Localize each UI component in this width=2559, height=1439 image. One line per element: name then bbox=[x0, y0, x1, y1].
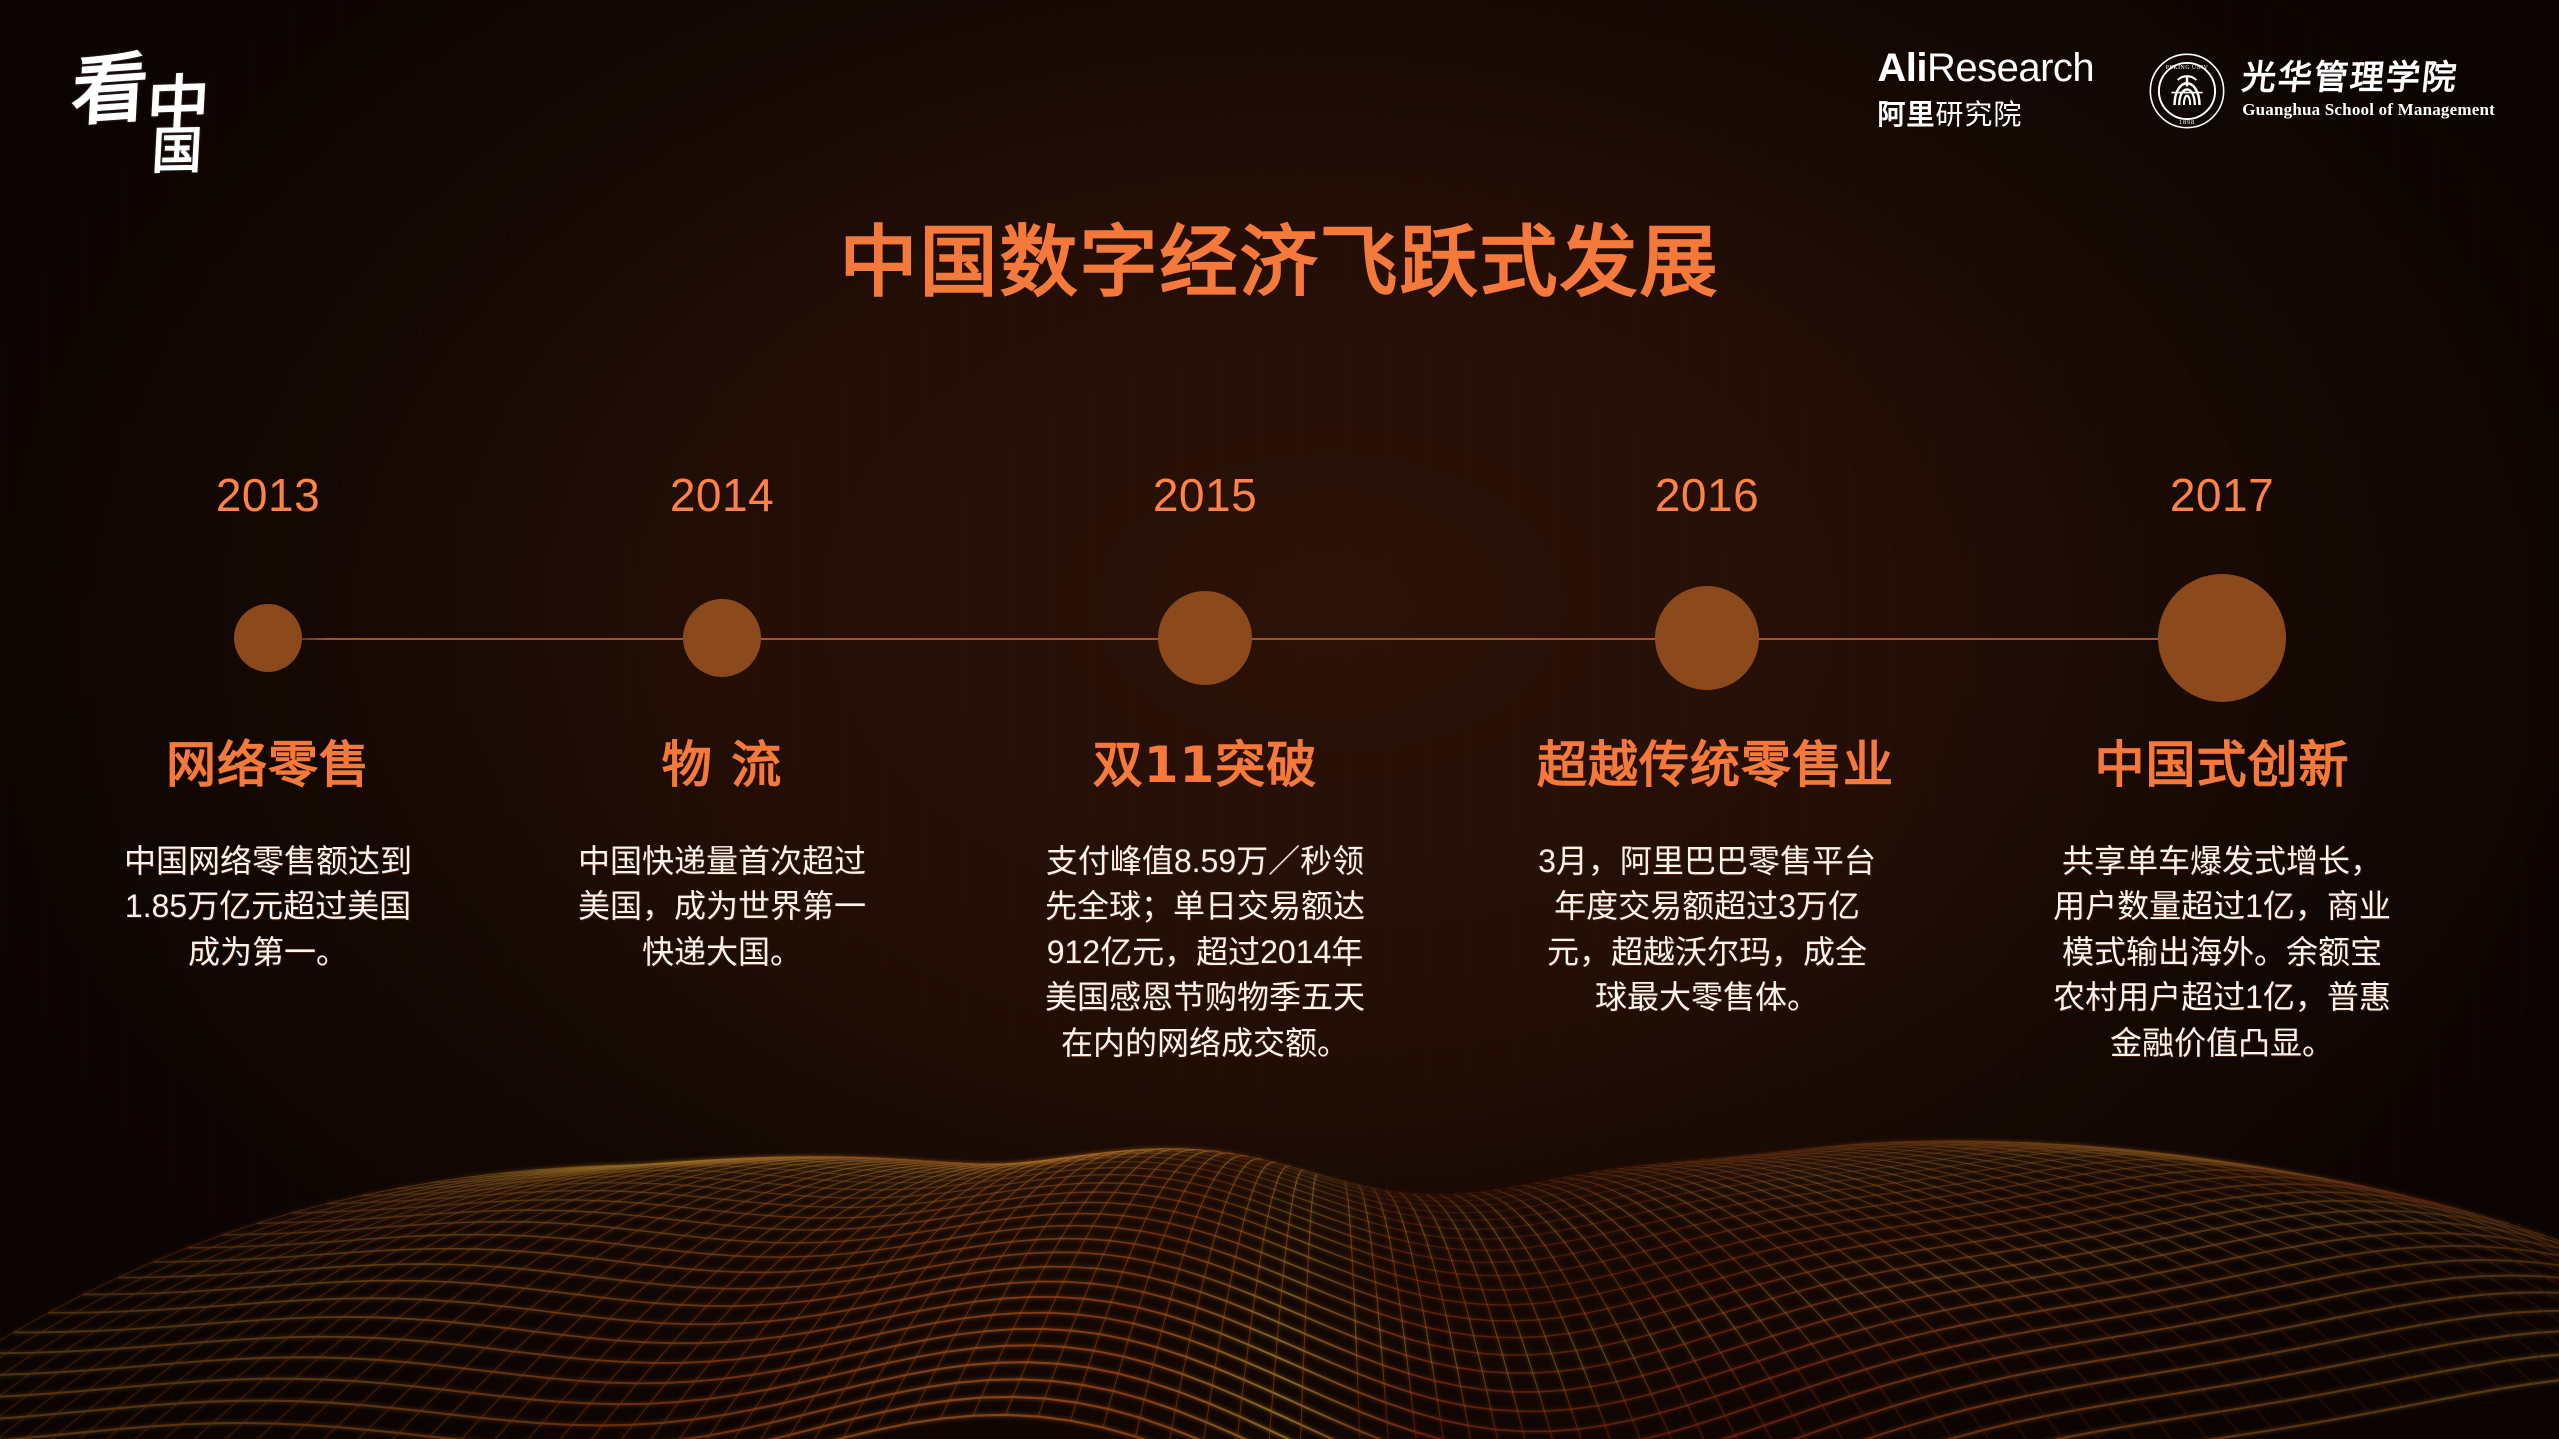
column-heading-2017: 中国式创新 bbox=[2052, 738, 2392, 793]
column-body-2017: 共享单车爆发式增长，用户数量超过1亿，商业模式输出海外。余额宝农村用户超过1亿，… bbox=[2052, 839, 2392, 1066]
timeline-dot-2015 bbox=[1158, 591, 1252, 685]
aliresearch-wordmark: AliResearch bbox=[1877, 48, 2094, 88]
aliresearch-logo: AliResearch 阿里研究院 bbox=[1877, 48, 2094, 133]
aliresearch-research: Research bbox=[1927, 46, 2094, 90]
timeline-dot-2014 bbox=[683, 599, 761, 677]
timeline-column-2017: 中国式创新共享单车爆发式增长，用户数量超过1亿，商业模式输出海外。余额宝农村用户… bbox=[2052, 738, 2392, 1066]
brand-logo-kan-zhongguo: 看 中 国 bbox=[72, 38, 262, 198]
timeline-year-2014: 2014 bbox=[670, 468, 774, 522]
timeline-column-2016: 超越传统零售业3月，阿里巴巴零售平台年度交易额超过3万亿元，超越沃尔玛，成全球最… bbox=[1537, 738, 1877, 1021]
timeline-year-2016: 2016 bbox=[1655, 468, 1759, 522]
brand-char-guo: 国 bbox=[151, 126, 204, 177]
aliresearch-cn-wordmark: 阿里研究院 bbox=[1877, 93, 2022, 133]
column-heading-2013: 网络零售 bbox=[118, 738, 418, 793]
guanghua-cn-name: 光华管理学院 bbox=[2240, 61, 2497, 97]
timeline-column-2013: 网络零售中国网络零售额达到1.85万亿元超过美国成为第一。 bbox=[118, 738, 418, 975]
column-body-2013: 中国网络零售额达到1.85万亿元超过美国成为第一。 bbox=[118, 839, 418, 975]
column-heading-2014: 物 流 bbox=[567, 738, 877, 793]
page-title: 中国数字经济飞跃式发展 bbox=[0, 200, 2559, 312]
timeline-dot-2016 bbox=[1655, 586, 1759, 690]
peking-university-seal-icon: PEKING UNIV 1898 bbox=[2148, 52, 2226, 130]
column-body-2015: 支付峰值8.59万／秒领先全球；单日交易额达912亿元，超过2014年美国感恩节… bbox=[1045, 839, 1365, 1066]
svg-text:1898: 1898 bbox=[2179, 118, 2195, 125]
aliresearch-cn-research: 研究院 bbox=[1935, 99, 2022, 130]
aliresearch-cn-ali: 阿里 bbox=[1877, 99, 1935, 130]
guanghua-logo: PEKING UNIV 1898 光华管理学院 Guanghua School … bbox=[2148, 52, 2495, 130]
timeline-dot-2017 bbox=[2158, 574, 2286, 702]
timeline-year-2013: 2013 bbox=[216, 468, 320, 522]
column-heading-2015: 双11突破 bbox=[1045, 738, 1365, 793]
brand-char-kan: 看 bbox=[70, 49, 150, 130]
column-heading-2016: 超越传统零售业 bbox=[1537, 738, 1877, 793]
column-body-2014: 中国快递量首次超过美国，成为世界第一快递大国。 bbox=[567, 839, 877, 975]
infographic-slide: 看 中 国 AliResearch 阿里研究院 P bbox=[0, 0, 2559, 1439]
timeline-dot-2013 bbox=[234, 604, 302, 672]
timeline-column-2014: 物 流中国快递量首次超过美国，成为世界第一快递大国。 bbox=[567, 738, 877, 975]
timeline-year-2015: 2015 bbox=[1153, 468, 1257, 522]
timeline-column-2015: 双11突破支付峰值8.59万／秒领先全球；单日交易额达912亿元，超过2014年… bbox=[1045, 738, 1365, 1066]
column-body-2016: 3月，阿里巴巴零售平台年度交易额超过3万亿元，超越沃尔玛，成全球最大零售体。 bbox=[1537, 839, 1877, 1021]
svg-text:PEKING UNIV: PEKING UNIV bbox=[2166, 65, 2209, 71]
partner-logos: AliResearch 阿里研究院 PEKING UNIV 1898 bbox=[1877, 48, 2495, 133]
timeline-year-2017: 2017 bbox=[2170, 468, 2274, 522]
aliresearch-ali: Ali bbox=[1877, 46, 1927, 90]
guanghua-en-name: Guanghua School of Management bbox=[2242, 100, 2495, 120]
guanghua-text-block: 光华管理学院 Guanghua School of Management bbox=[2242, 61, 2495, 121]
